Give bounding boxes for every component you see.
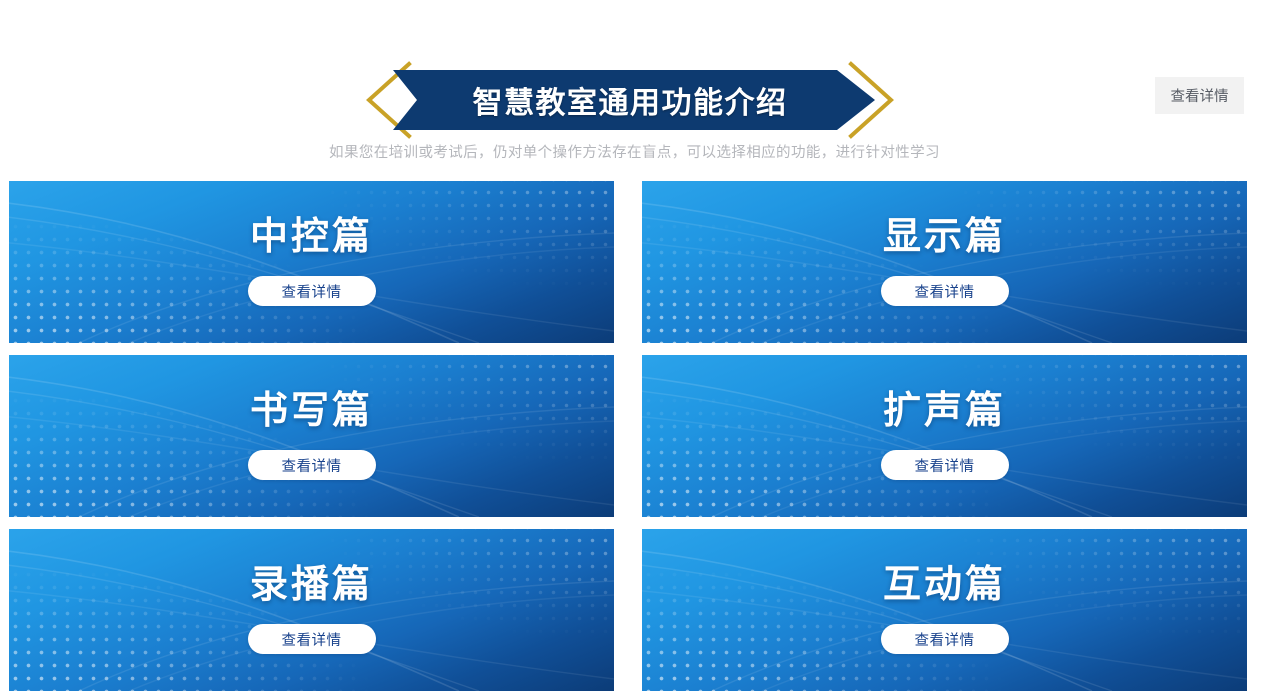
card-view-details-button[interactable]: 查看详情 [881, 450, 1009, 480]
card-view-details-button[interactable]: 查看详情 [248, 450, 376, 480]
header-view-details-button[interactable]: 查看详情 [1155, 77, 1244, 114]
card-content: 中控篇 查看详情 [9, 181, 614, 343]
page-header: 智慧教室通用功能介绍 如果您在培训或考试后，仍对单个操作方法存在盲点，可以选择相… [0, 0, 1269, 181]
card-title: 录播篇 [250, 566, 373, 604]
feature-card-interactive[interactable]: 互动篇 查看详情 [642, 529, 1247, 691]
card-title: 中控篇 [250, 218, 373, 256]
page-root: 智慧教室通用功能介绍 如果您在培训或考试后，仍对单个操作方法存在盲点，可以选择相… [0, 0, 1269, 691]
page-title: 智慧教室通用功能介绍 [363, 60, 897, 140]
card-view-details-button[interactable]: 查看详情 [248, 624, 376, 654]
feature-card-central-control[interactable]: 中控篇 查看详情 [9, 181, 614, 343]
page-subtitle: 如果您在培训或考试后，仍对单个操作方法存在盲点，可以选择相应的功能，进行针对性学… [0, 141, 1269, 162]
banner: 智慧教室通用功能介绍 [363, 60, 897, 140]
card-view-details-button[interactable]: 查看详情 [881, 624, 1009, 654]
card-content: 录播篇 查看详情 [9, 529, 614, 691]
card-title: 书写篇 [250, 392, 373, 430]
card-title: 显示篇 [883, 218, 1006, 256]
card-title: 互动篇 [883, 566, 1006, 604]
feature-card-recording[interactable]: 录播篇 查看详情 [9, 529, 614, 691]
feature-card-display[interactable]: 显示篇 查看详情 [642, 181, 1247, 343]
feature-card-grid: 中控篇 查看详情 显示篇 查看详情 [9, 181, 1247, 691]
feature-card-audio[interactable]: 扩声篇 查看详情 [642, 355, 1247, 517]
card-title: 扩声篇 [883, 392, 1006, 430]
card-view-details-button[interactable]: 查看详情 [248, 276, 376, 306]
card-content: 扩声篇 查看详情 [642, 355, 1247, 517]
card-content: 显示篇 查看详情 [642, 181, 1247, 343]
feature-card-writing[interactable]: 书写篇 查看详情 [9, 355, 614, 517]
card-view-details-button[interactable]: 查看详情 [881, 276, 1009, 306]
card-content: 互动篇 查看详情 [642, 529, 1247, 691]
card-content: 书写篇 查看详情 [9, 355, 614, 517]
